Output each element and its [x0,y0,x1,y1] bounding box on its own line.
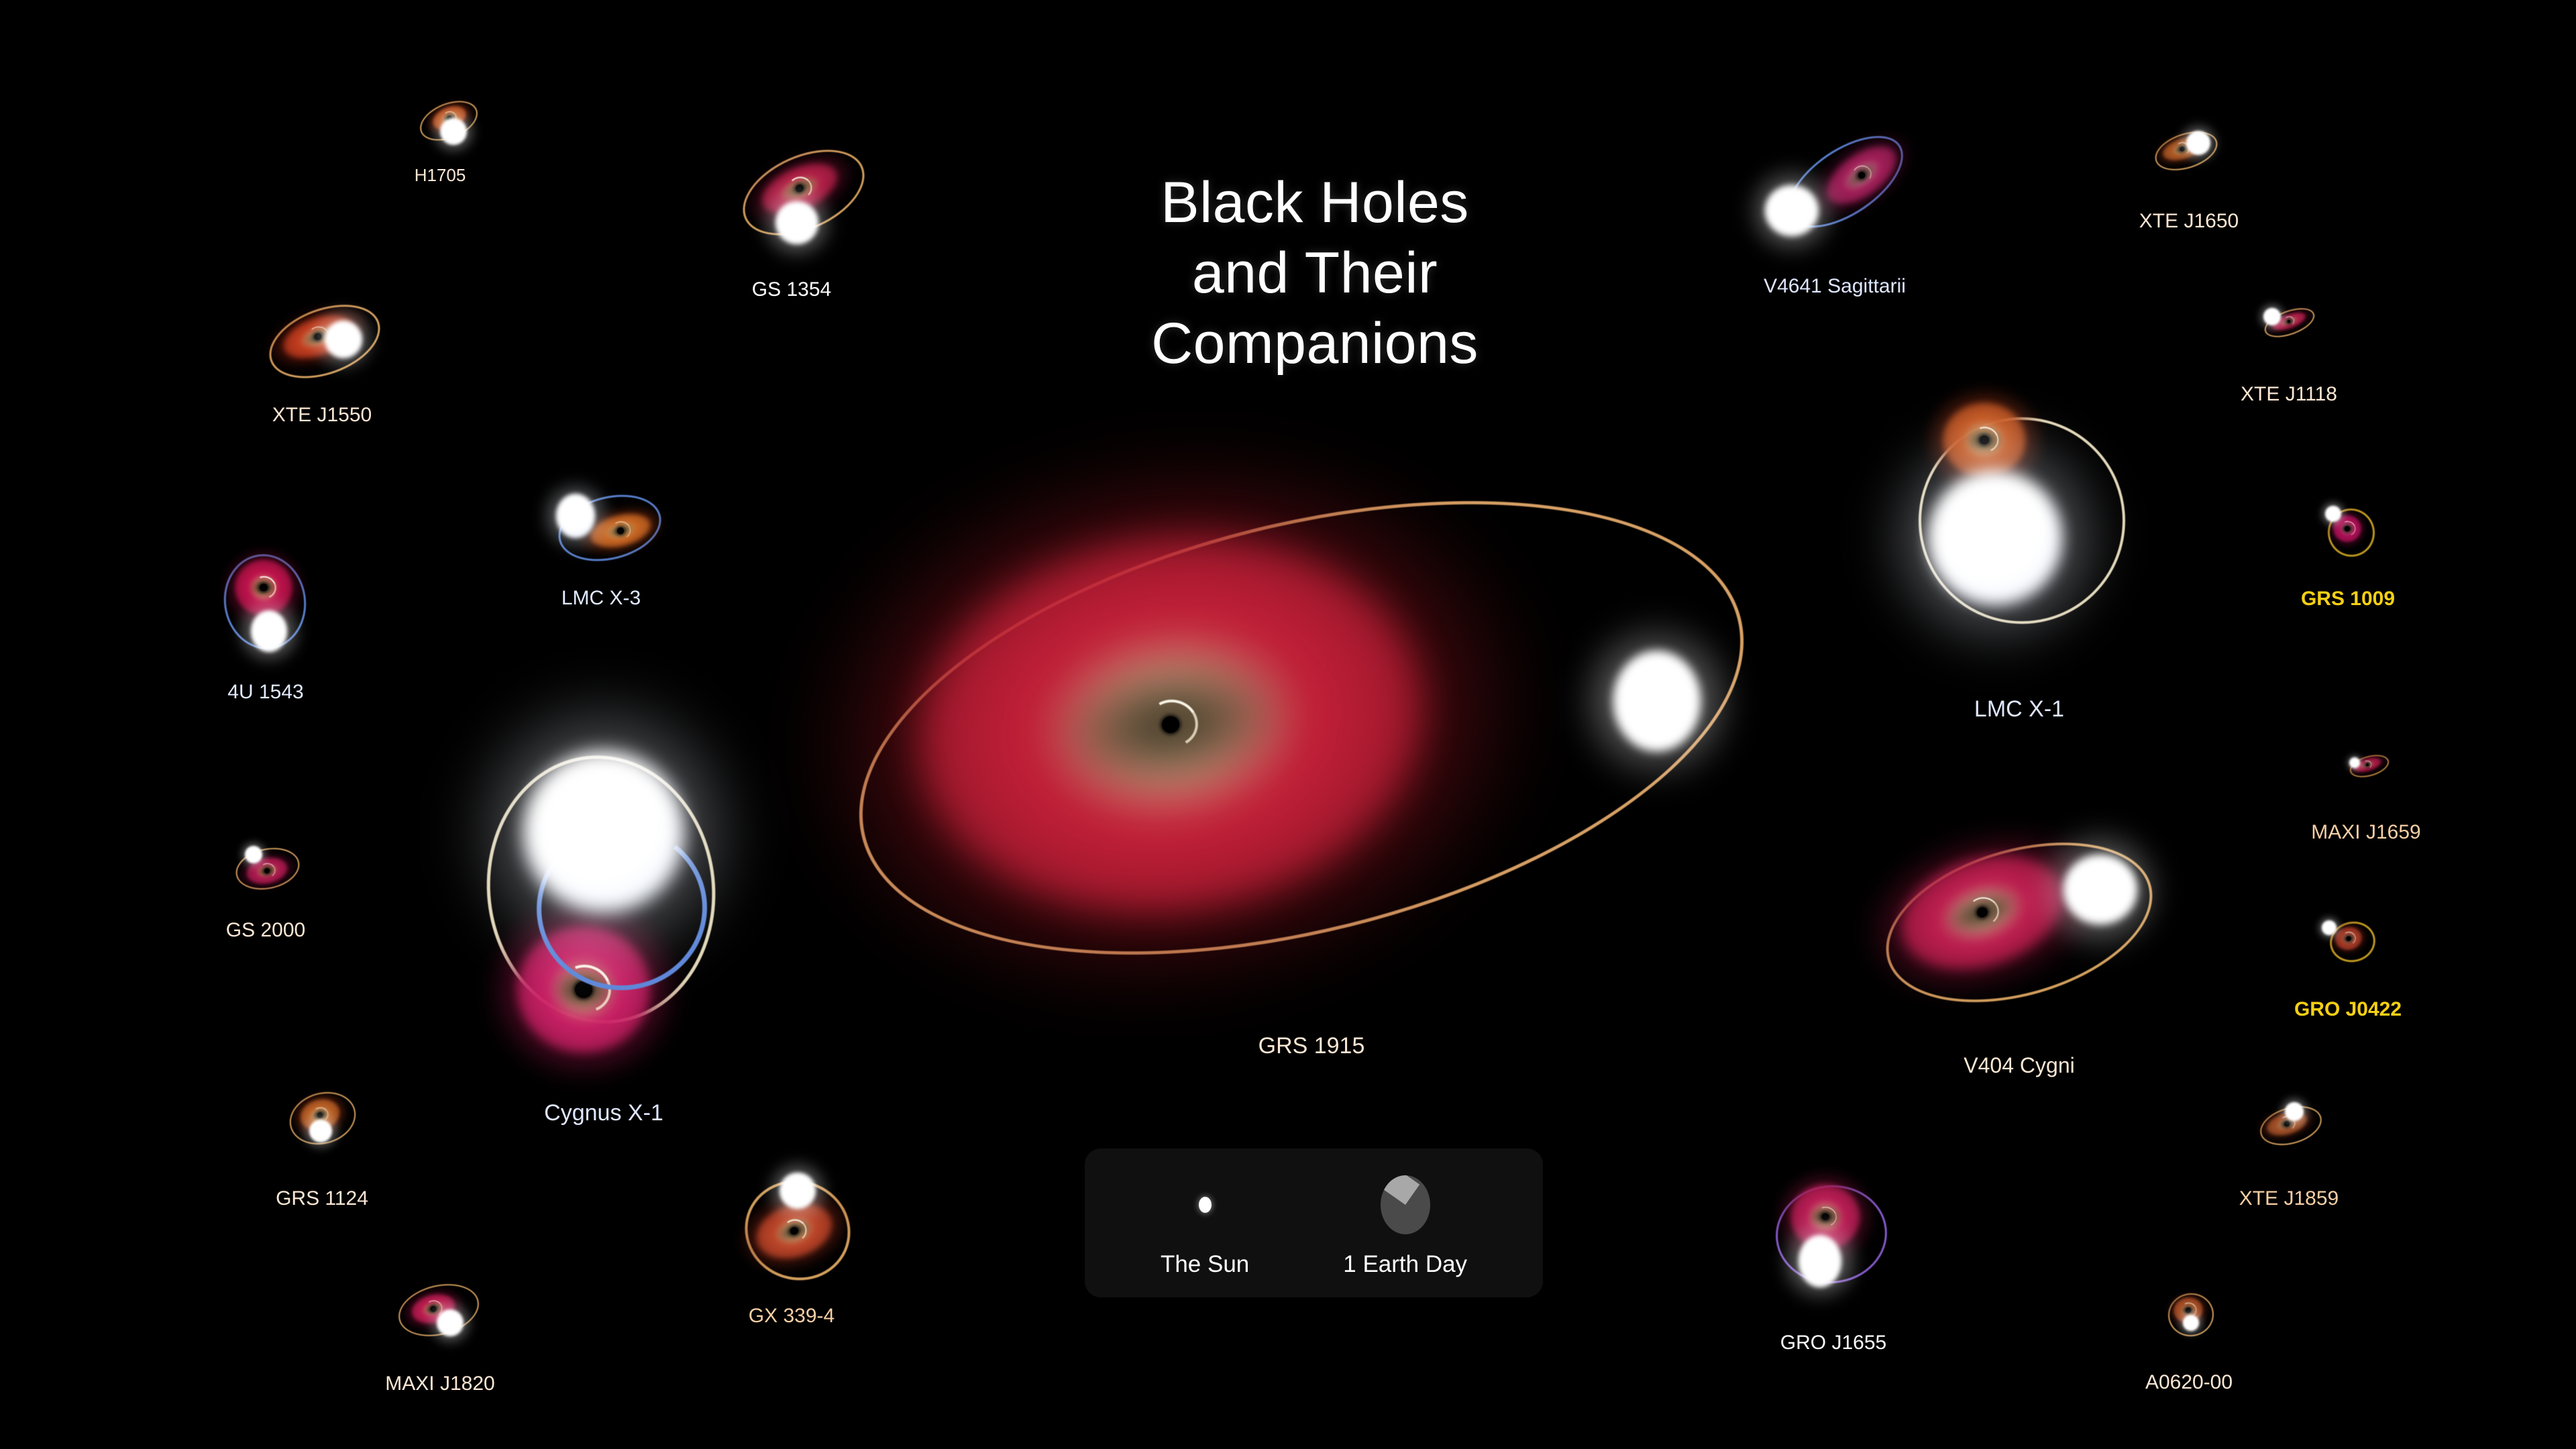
bh-system-maxij1659[interactable]: MAXI J1659 [2316,721,2416,808]
companion-star [1799,1235,1841,1287]
system-label-gx3394: GX 339-4 [749,1305,835,1328]
companion-star [1928,471,2062,605]
bh-system-xtej1650[interactable]: XTE J1650 [2135,104,2243,198]
bh-system-groj1655[interactable]: GRO J1655 [1760,1171,1907,1318]
system-label-lmcx3: LMC X-3 [561,587,641,610]
system-label-lmcx1: LMC X-1 [1974,696,2064,722]
bh-system-gs1354[interactable]: GS 1354 [718,134,865,268]
star-body [2183,1315,2199,1331]
bh-system-maxij1820[interactable]: MAXI J1820 [383,1268,497,1362]
star-body [523,751,684,912]
bh-system-lmcx1[interactable]: LMC X-1 [1898,389,2140,671]
companion-star [437,1309,464,1336]
scale-legend: The Sun 1 Earth Day [1085,1148,1543,1297]
star-body [1799,1235,1841,1287]
legend-item-earth-day: 1 Earth Day [1343,1168,1467,1278]
companion-star [2349,757,2360,768]
page-title: Black Holes and Their Companions [1033,168,1597,379]
system-label-maxij1820: MAXI J1820 [385,1373,494,1395]
title-line-1: Black Holes [1161,170,1469,235]
companion-star [245,846,262,863]
bh-system-xtej1859[interactable]: XTE J1859 [2235,1077,2343,1177]
companion-star [309,1120,332,1142]
system-label-xtej1859: XTE J1859 [2239,1187,2339,1210]
bh-system-lmcx3[interactable]: LMC X-3 [537,476,665,577]
system-label-groj1655: GRO J1655 [1780,1332,1886,1354]
bh-system-gs2000[interactable]: GS 2000 [215,822,316,909]
system-label-maxij1659: MAXI J1659 [2311,821,2420,844]
legend-item-sun: The Sun [1161,1168,1249,1278]
bh-system-a0620[interactable]: A0620-00 [2139,1268,2239,1362]
star-body [440,118,467,145]
system-label-4u1543: 4U 1543 [227,681,303,704]
system-label-grs1009: GRS 1009 [2301,588,2395,610]
bh-system-h1705[interactable]: H1705 [400,74,480,154]
system-label-grs1124: GRS 1124 [276,1187,368,1210]
companion-star [2063,855,2137,924]
system-label-grs1915: GRS 1915 [1258,1033,1365,1059]
bh-system-grs1915[interactable]: GRS 1915 [835,496,1788,1046]
bh-system-grs1124[interactable]: GRS 1124 [272,1077,372,1177]
bh-system-cygnusx1[interactable]: Cygnus X-1 [470,724,738,1073]
system-label-xtej1550: XTE J1550 [272,404,372,427]
bh-system-v4641[interactable]: V4641 Sagittarii [1748,134,1922,268]
system-label-a0620: A0620-00 [2145,1371,2233,1394]
companion-star [780,1173,816,1209]
system-label-cygnusx1: Cygnus X-1 [544,1100,663,1126]
companion-star [2322,920,2337,935]
star-body [2349,757,2360,768]
sun-dot-icon [1199,1168,1212,1242]
star-body [775,201,818,244]
star-body [251,610,287,652]
star-body [556,494,595,538]
starfield-canvas: Black Holes and Their Companions H1705GS… [0,0,2576,1449]
companion-star [2183,1315,2199,1331]
accretion-disk [892,503,1450,946]
bh-system-v404[interactable]: V404 Cygni [1872,825,2167,1040]
companion-star [1765,185,1819,236]
companion-star [1613,651,1701,751]
star-body [2063,855,2137,924]
star-body [245,846,262,863]
system-label-v404: V404 Cygni [1964,1053,2074,1078]
system-label-v4641: V4641 Sagittarii [1764,275,1906,298]
companion-star [2325,506,2341,522]
star-body [437,1309,464,1336]
black-hole [2345,526,2350,531]
companion-star [556,494,595,538]
bh-system-xtej1118[interactable]: XTE J1118 [2235,278,2343,372]
system-label-gs1354: GS 1354 [752,278,831,301]
system-label-groj0422: GRO J0422 [2294,998,2402,1021]
star-body [2285,1102,2304,1121]
bh-system-gx3394[interactable]: GX 339-4 [718,1154,865,1295]
star-body [325,321,362,358]
legend-day-label: 1 Earth Day [1343,1251,1467,1278]
star-body [1613,651,1701,751]
title-line-2: and Their Companions [1033,238,1597,379]
star-body [780,1173,816,1209]
bh-system-4u1543[interactable]: 4U 1543 [205,537,326,671]
star-body [1765,185,1819,236]
star-body [2186,131,2210,155]
bh-system-grs1009[interactable]: GRS 1009 [2301,483,2395,577]
star-body [2325,506,2341,522]
pie-clock-icon [1381,1168,1430,1242]
system-label-xtej1118: XTE J1118 [2241,383,2337,406]
system-label-xtej1650: XTE J1650 [2139,210,2239,233]
companion-star [523,751,684,912]
companion-star [2263,308,2281,325]
companion-star [2285,1102,2304,1121]
star-body [309,1120,332,1142]
companion-star [2186,131,2210,155]
legend-sun-label: The Sun [1161,1251,1249,1278]
bh-system-xtej1550[interactable]: XTE J1550 [255,288,389,396]
system-label-gs2000: GS 2000 [226,919,305,942]
companion-star [440,118,467,145]
companion-star [325,321,362,358]
star-body [2263,308,2281,325]
companion-star [775,201,818,244]
bh-system-groj0422[interactable]: GRO J0422 [2298,892,2398,986]
star-body [2322,920,2337,935]
companion-star [251,610,287,652]
system-label-h1705: H1705 [415,165,466,186]
star-body [1928,471,2062,605]
